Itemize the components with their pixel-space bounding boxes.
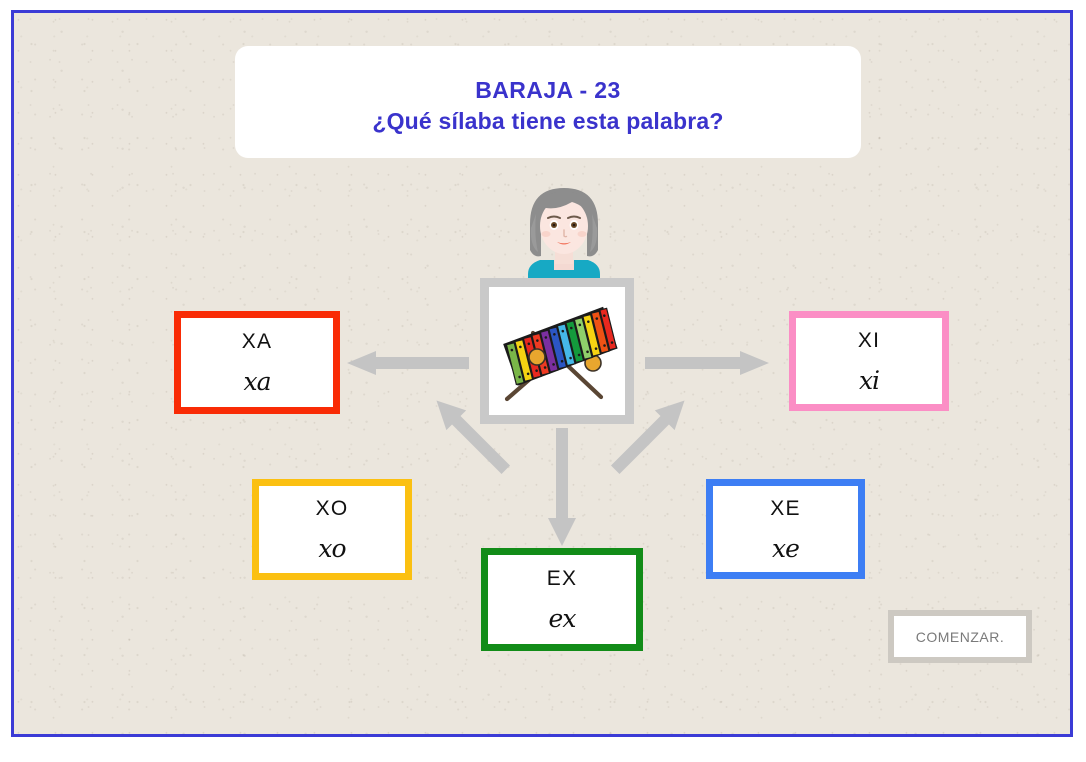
option-lower-xa: xa	[243, 369, 270, 394]
option-card-ex[interactable]: EX ex	[481, 548, 643, 651]
teacher-avatar	[508, 174, 620, 284]
option-upper-xi: XI	[858, 330, 880, 351]
option-lower-xo: xo	[318, 536, 345, 561]
option-upper-xa: XA	[242, 331, 272, 352]
option-lower-xe: xe	[772, 536, 799, 561]
question-text: ¿Qué sílaba tiene esta palabra?	[372, 106, 723, 137]
page-title: BARAJA - 23	[475, 75, 620, 106]
option-card-xi[interactable]: XI xi	[789, 311, 949, 411]
option-card-xe[interactable]: XE xe	[706, 479, 865, 579]
arrow-to-xa	[347, 351, 469, 375]
start-button[interactable]: COMENZAR.	[888, 610, 1032, 663]
option-lower-xi: xi	[859, 368, 879, 393]
xylophone-picture	[489, 287, 625, 415]
option-card-xo[interactable]: XO xo	[252, 479, 412, 580]
slide-stage: BARAJA - 23 ¿Qué sílaba tiene esta palab…	[0, 0, 1086, 749]
option-upper-ex: EX	[547, 568, 577, 589]
slide-frame: BARAJA - 23 ¿Qué sílaba tiene esta palab…	[11, 10, 1073, 737]
arrow-to-xi	[645, 351, 769, 375]
arrow-to-ex	[548, 428, 576, 546]
prompt-image-frame	[480, 278, 634, 424]
option-upper-xe: XE	[770, 498, 800, 519]
option-card-xa[interactable]: XA xa	[174, 311, 340, 414]
title-card: BARAJA - 23 ¿Qué sílaba tiene esta palab…	[235, 46, 861, 158]
option-upper-xo: XO	[316, 498, 349, 519]
option-lower-ex: ex	[549, 606, 576, 631]
